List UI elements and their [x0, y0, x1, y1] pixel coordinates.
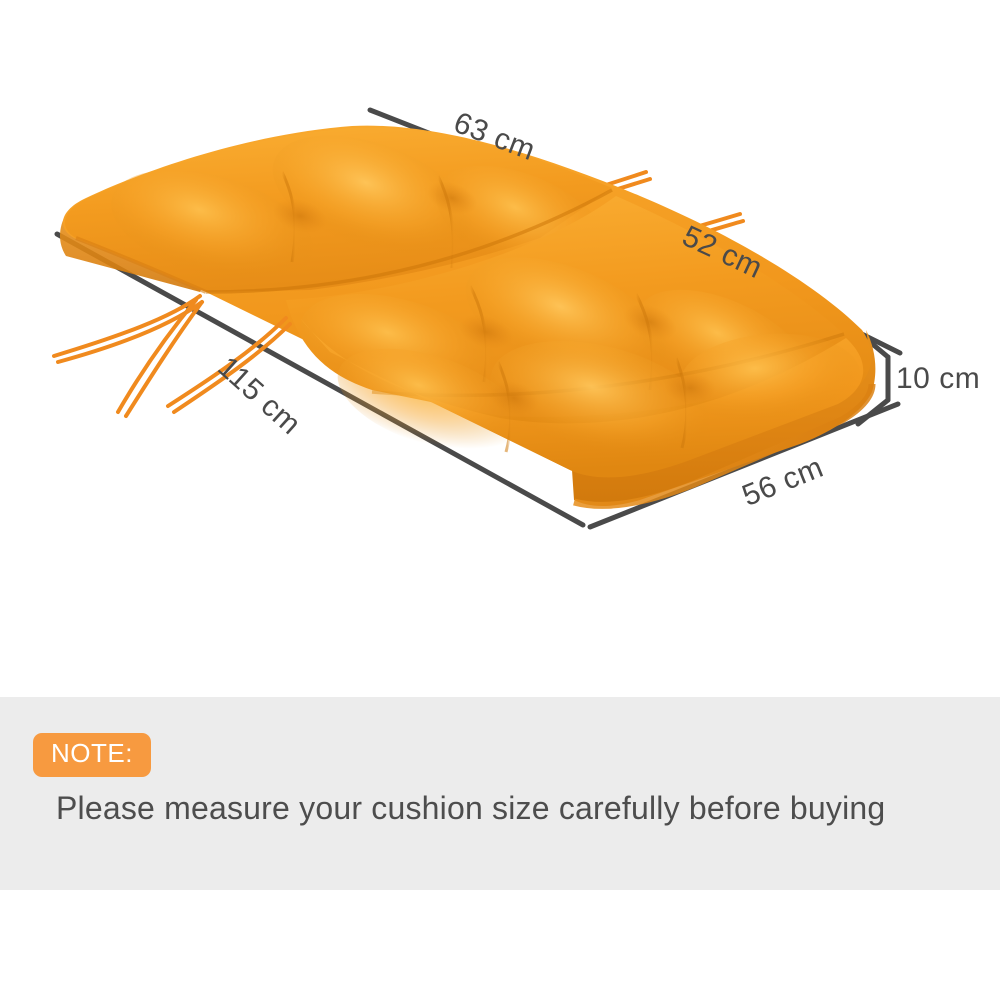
note-panel: NOTE: Please measure your cushion size c… — [0, 697, 1000, 890]
note-text: Please measure your cushion size careful… — [56, 790, 885, 827]
product-dimension-diagram: 63 cm 52 cm 115 cm 56 cm 10 cm NOTE: Ple… — [0, 0, 1000, 1000]
note-badge: NOTE: — [33, 733, 151, 777]
dimension-label-10: 10 cm — [896, 362, 980, 396]
product-illustration-area: 63 cm 52 cm 115 cm 56 cm 10 cm — [0, 0, 1000, 697]
cushion-illustration-svg — [0, 0, 1000, 697]
